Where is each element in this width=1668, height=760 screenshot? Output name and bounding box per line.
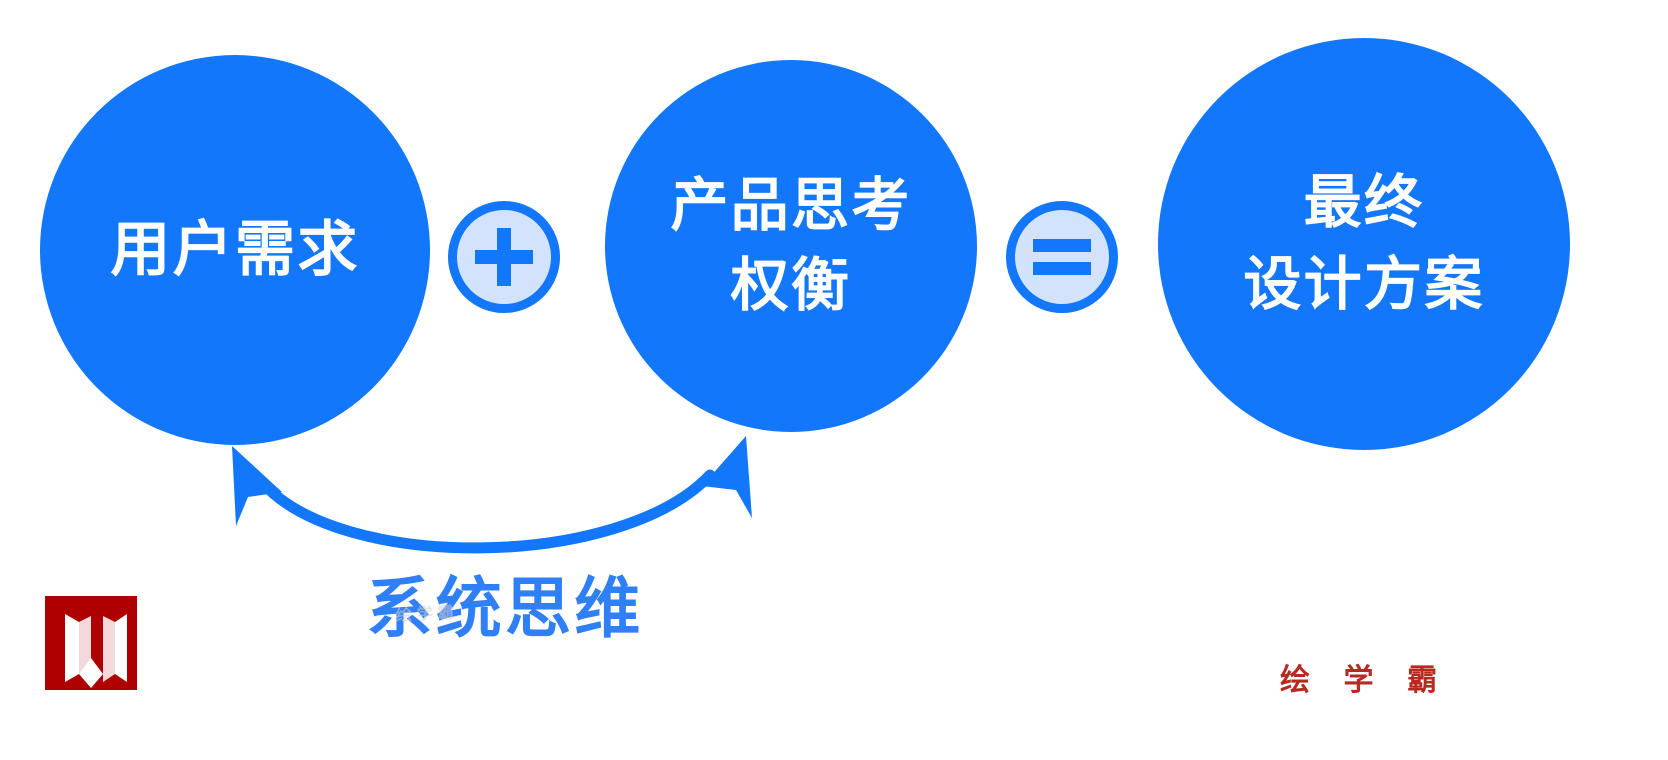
operator-equals — [1006, 201, 1118, 313]
connector-double-arrow-icon — [190, 420, 830, 570]
node-final-design-label-line1: 最终 — [1304, 170, 1425, 236]
node-final-design-label-line2: 设计方案 — [1243, 252, 1484, 318]
plus-icon — [475, 228, 533, 286]
node-product-thinking-label-line1: 产品思考 — [670, 173, 911, 239]
node-product-thinking-label-line2: 权衡 — [731, 253, 852, 319]
equals-icon — [1033, 228, 1091, 286]
site-watermark: 绘 学 霸 — [1280, 655, 1450, 699]
node-product-thinking[interactable]: 产品思考 权衡 — [605, 60, 977, 432]
brand-logo — [45, 596, 137, 690]
node-user-needs[interactable]: 用户需求 — [40, 55, 430, 445]
ghost-watermark: 绘学霸 — [395, 598, 459, 625]
diagram-canvas: 用户需求 产品思考 权衡 最终 设计方案 系统思维 绘学霸 绘 学 — [0, 0, 1668, 760]
node-user-needs-label: 用户需求 — [110, 216, 360, 284]
w-monogram-icon — [45, 596, 137, 690]
operator-plus — [448, 201, 560, 313]
node-final-design[interactable]: 最终 设计方案 — [1158, 38, 1570, 450]
connector-label-systems-thinking: 系统思维 — [0, 555, 1010, 651]
